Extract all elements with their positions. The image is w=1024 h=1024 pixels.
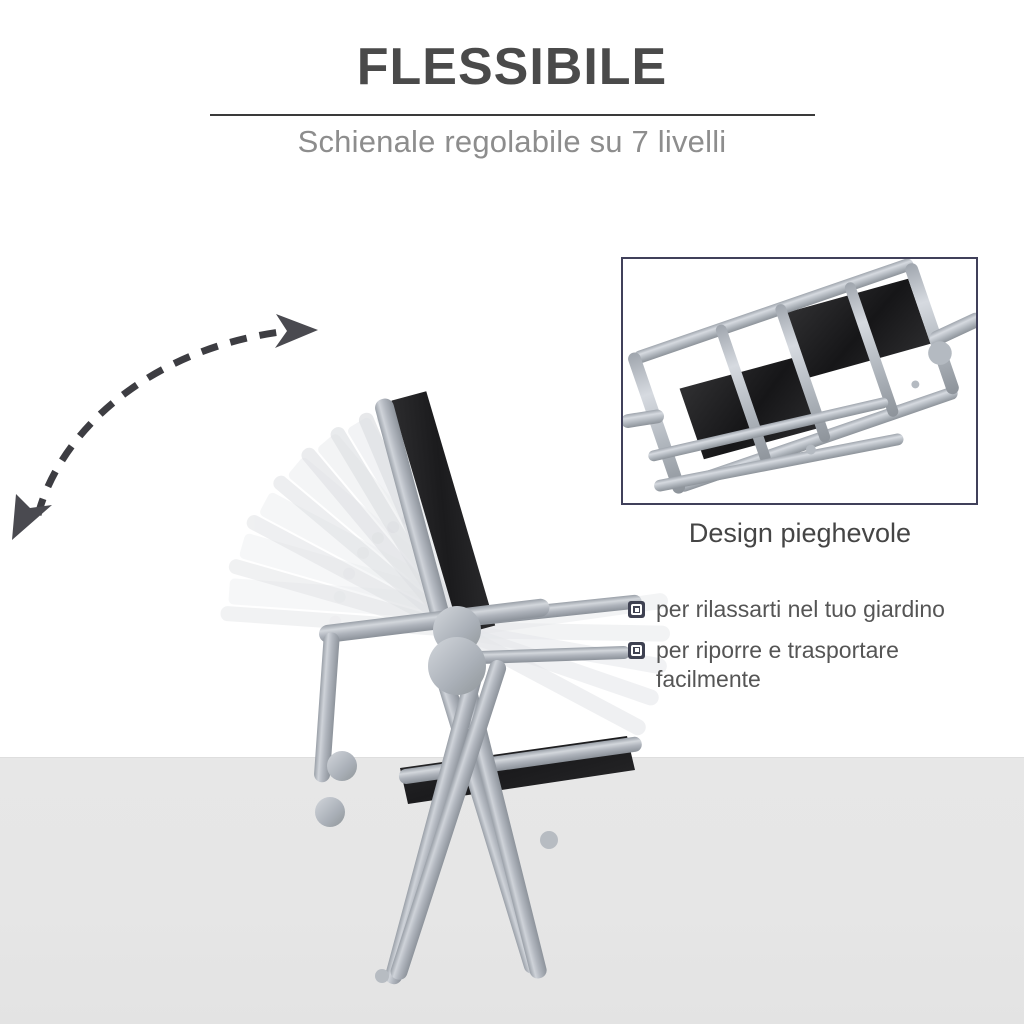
feature-bullet-list: per rilassarti nel tuo giardino per ripo…	[628, 595, 998, 705]
square-in-square-icon	[628, 642, 645, 659]
promo-image-canvas: FLESSIBILE Schienale regolabile su 7 liv…	[0, 0, 1024, 1024]
page-subtitle: Schienale regolabile su 7 livelli	[0, 124, 1024, 160]
page-title: FLESSIBILE	[0, 0, 1024, 95]
list-item-label: per riporre e trasportare facilmente	[656, 636, 998, 694]
list-item: per rilassarti nel tuo giardino	[628, 595, 998, 624]
list-item: per riporre e trasportare facilmente	[628, 636, 998, 694]
chair-illustration	[0, 300, 700, 1024]
square-in-square-icon	[628, 601, 645, 618]
inset-caption: Design pieghevole	[600, 518, 1000, 549]
title-divider	[210, 114, 815, 116]
list-item-label: per rilassarti nel tuo giardino	[656, 595, 945, 624]
inset-photo-folded-chair	[621, 257, 978, 505]
header: FLESSIBILE Schienale regolabile su 7 liv…	[0, 0, 1024, 95]
